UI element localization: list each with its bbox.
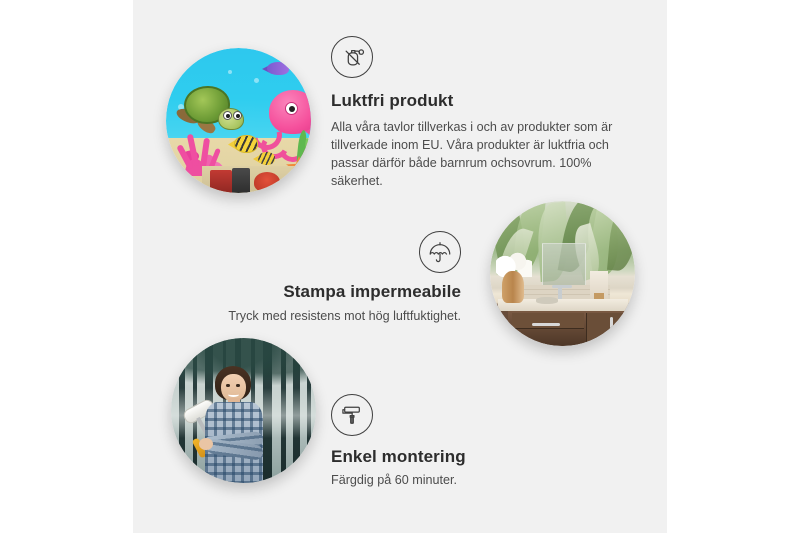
umbrella-icon (419, 231, 461, 273)
no-fragrance-icon (331, 36, 373, 78)
feature-odour-free: Luktfri produkt Alla våra tavlor tillver… (331, 36, 631, 191)
feature-body: Färgdig på 60 minuter. (331, 471, 611, 489)
feature-title: Stampa impermeabile (193, 282, 461, 302)
feature-title: Luktfri produkt (331, 91, 631, 111)
woman-with-paint-roller-forest-image (171, 338, 316, 483)
product-feature-infographic: Luktfri produkt Alla våra tavlor tillver… (0, 0, 800, 533)
feature-title: Enkel montering (331, 447, 611, 467)
feature-body: Alla våra tavlor tillverkas i och av pro… (331, 118, 631, 191)
feature-waterproof-print: Stampa impermeabile Tryck med resistens … (193, 231, 461, 325)
feature-easy-mounting: Enkel montering Färgdig på 60 minuter. (331, 394, 611, 489)
feature-body: Tryck med resistens mot hög luftfuktighe… (193, 307, 461, 325)
content-panel: Luktfri produkt Alla våra tavlor tillver… (133, 0, 667, 533)
paint-roller-icon (331, 394, 373, 436)
underwater-kids-scene-image (166, 48, 311, 193)
bathroom-tropical-wallpaper-image (490, 201, 635, 346)
